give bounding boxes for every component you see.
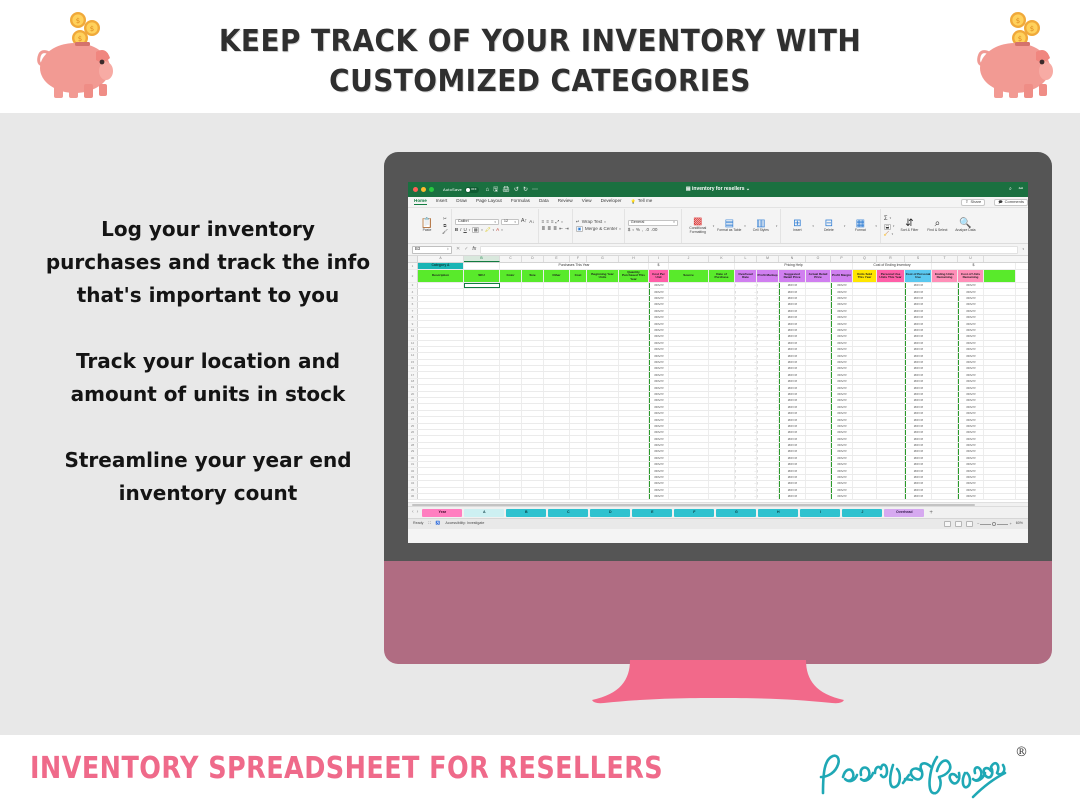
grid-cell[interactable]: |- [757,309,779,314]
grid-cell[interactable] [522,315,544,320]
grid-cell[interactable] [877,417,905,422]
grid-cell[interactable] [500,315,522,320]
grid-cell[interactable]: #DIV/0! [831,475,853,480]
grid-cell[interactable] [522,309,544,314]
grid-cell[interactable] [587,456,619,461]
grid-cell[interactable] [806,436,831,441]
font-row-bottom[interactable]: B I U ▾ ▦ ▾ 🖍 ▾ A ▾ [455,227,535,233]
grid-cell[interactable]: |- [757,360,779,365]
grid-cell[interactable] [500,462,522,467]
row-header[interactable]: 15 [408,360,418,365]
grid-cell[interactable]: #DIV/0! [831,309,853,314]
grid-cell[interactable] [544,475,570,480]
grid-cell[interactable]: #DIV/0! [958,385,984,390]
underline-button[interactable]: U [463,228,466,233]
grid-cell[interactable] [619,443,649,448]
grid-cell[interactable] [669,430,709,435]
number-buttons-row[interactable]: $ ▾ % , .0 .00 [628,228,678,233]
row-header[interactable]: 25 [408,424,418,429]
chevron-down-icon[interactable]: ▾ [494,221,496,224]
column-header-row[interactable]: ABCDEFGHIJKLMNOPQRSTU [408,256,1028,263]
grid-cell[interactable]: #DIV/0! [958,289,984,294]
grid-cell[interactable] [853,449,877,454]
grid-cell[interactable] [500,404,522,409]
row-header[interactable]: 18 [408,379,418,384]
chevron-down-icon[interactable]: ▾ [469,229,471,232]
grid-cell[interactable] [806,309,831,314]
grid-cell[interactable] [669,411,709,416]
grid-cell[interactable]: #DIV/0! [905,385,932,390]
grid-cell[interactable] [464,289,500,294]
grid-cell[interactable] [418,456,464,461]
grid-cell[interactable]: #DIV/0! [649,404,669,409]
grid-cell[interactable] [709,309,735,314]
grid-cell[interactable] [932,321,958,326]
grid-cell[interactable] [669,475,709,480]
grid-cell[interactable] [570,321,587,326]
grid-cell[interactable]: #DIV/0! [779,488,806,493]
grid-cell[interactable]: |- [757,315,779,320]
grid-cell[interactable]: #DIV/0! [831,302,853,307]
sheet-tab-c[interactable]: C [548,509,588,517]
grid-cell[interactable] [587,488,619,493]
formula-input[interactable] [480,246,1018,254]
grid-cell[interactable] [570,334,587,339]
grid-cell[interactable] [500,296,522,301]
grid-cell[interactable]: #DIV/0! [649,302,669,307]
sheet-nav-arrows[interactable]: ‹ › [412,510,418,515]
grid-cell[interactable] [877,462,905,467]
grid-cell[interactable] [522,321,544,326]
row-header[interactable]: 4 [408,289,418,294]
print-icon[interactable]: 🖨 [502,187,510,193]
grid-cell[interactable] [669,334,709,339]
grid-cell[interactable]: #DIV/0! [905,392,932,397]
grid-cell[interactable] [806,379,831,384]
grid-cell[interactable] [984,302,1016,307]
page-break-view-icon[interactable] [966,521,973,527]
analyze-data-button[interactable]: 🔍 Analyze Data [952,219,978,233]
grid-cell[interactable] [877,488,905,493]
tell-me-box[interactable]: 💡 Tell me [631,199,653,205]
grid-cell[interactable] [464,488,500,493]
grid-cell[interactable] [806,443,831,448]
grid-cell[interactable] [619,283,649,288]
grid-cell[interactable]: #DIV/0! [831,372,853,377]
grid-cell[interactable] [709,411,735,416]
grid-cell[interactable] [587,289,619,294]
table-row[interactable]: 36#DIV/0!|-|-#DIV/0!#DIV/0!#DIV/0!#DIV/0… [408,494,1028,500]
grid-cell[interactable]: |- [757,417,779,422]
grid-cell[interactable] [570,494,587,499]
grid-cell[interactable] [709,417,735,422]
grid-cell[interactable]: #DIV/0! [649,411,669,416]
grid-cell[interactable] [500,385,522,390]
grid-cell[interactable] [932,315,958,320]
sheet-tab-i[interactable]: I [800,509,840,517]
halign-row[interactable]: ≣ ≣ ≣ ⇤ ⇥ [542,227,569,232]
grid-cell[interactable]: #DIV/0! [905,449,932,454]
grid-cell[interactable] [853,404,877,409]
grid-cell[interactable] [619,468,649,473]
grid-cell[interactable] [464,360,500,365]
grid-cell[interactable]: #DIV/0! [649,283,669,288]
row-header[interactable]: 19 [408,385,418,390]
row-header[interactable]: 13 [408,347,418,352]
orientation-icon[interactable]: ⤢ [556,220,560,225]
grid-cell[interactable] [500,379,522,384]
spreadsheet-grid[interactable]: ABCDEFGHIJKLMNOPQRSTU 1Category APurchas… [408,256,1028,502]
grid-cell[interactable] [619,385,649,390]
grid-cell[interactable] [619,488,649,493]
grid-cell[interactable] [806,411,831,416]
grid-cell[interactable] [522,385,544,390]
grid-cell[interactable]: |- [757,443,779,448]
grid-cell[interactable]: #DIV/0! [958,488,984,493]
grid-cell[interactable] [418,468,464,473]
grid-cell[interactable] [522,424,544,429]
grid-cell[interactable] [587,494,619,499]
grid-cell[interactable]: #DIV/0! [779,334,806,339]
grid-cell[interactable] [619,411,649,416]
grid-cell[interactable] [544,289,570,294]
grid-cell[interactable] [619,417,649,422]
chevron-down-icon[interactable]: ▾ [673,221,675,224]
align-top-icon[interactable]: ≡ [542,220,545,225]
grid-cell[interactable] [500,283,522,288]
grid-cell[interactable]: #DIV/0! [649,296,669,301]
grid-cell[interactable] [464,334,500,339]
grid-cell[interactable]: #DIV/0! [831,417,853,422]
grid-cell[interactable] [522,283,544,288]
grid-cell[interactable]: #DIV/0! [649,289,669,294]
row-header[interactable]: 16 [408,366,418,371]
grid-cell[interactable] [570,379,587,384]
grid-cell[interactable]: |- [735,430,757,435]
grid-cell[interactable]: |- [735,404,757,409]
grid-cell[interactable] [522,488,544,493]
grid-cell[interactable] [669,404,709,409]
grid-cell[interactable]: #DIV/0! [649,372,669,377]
grid-cell[interactable]: #DIV/0! [779,360,806,365]
grid-cell[interactable]: #DIV/0! [649,398,669,403]
grid-cell[interactable] [932,424,958,429]
column-header-e[interactable]: E [544,256,570,262]
row-header[interactable]: 33 [408,475,418,480]
grid-cell[interactable] [418,462,464,467]
grid-cell[interactable] [669,436,709,441]
grid-cell[interactable] [544,411,570,416]
more-icon[interactable]: ⋯ [532,187,538,193]
grid-cell[interactable] [544,283,570,288]
grid-cell[interactable]: #DIV/0! [649,488,669,493]
grid-cell[interactable] [544,417,570,422]
align-bottom-icon[interactable]: ≡ [551,220,554,225]
grid-cell[interactable] [853,468,877,473]
column-header-m[interactable]: M [757,256,779,262]
grid-cell[interactable] [570,443,587,448]
grid-cell[interactable] [544,309,570,314]
grid-cell[interactable] [587,392,619,397]
horizontal-scrollbar[interactable] [408,502,1028,506]
grid-cell[interactable]: |- [735,341,757,346]
row-header[interactable]: 22 [408,404,418,409]
row-header[interactable]: 23 [408,411,418,416]
format-cells-button[interactable]: ▦ Format [847,219,873,233]
column-header-o[interactable]: O [806,256,831,262]
grid-cell[interactable] [853,372,877,377]
grid-cell[interactable] [587,449,619,454]
grid-cell[interactable]: #DIV/0! [779,296,806,301]
row-header[interactable]: 9 [408,321,418,326]
grid-cell[interactable] [619,456,649,461]
minimize-dot-icon[interactable] [421,187,426,192]
chevron-down-icon[interactable]: ▾ [514,221,516,224]
grid-cell[interactable] [806,392,831,397]
grid-cell[interactable]: |- [735,411,757,416]
grid-cell[interactable] [418,379,464,384]
grid-cell[interactable] [500,372,522,377]
grid-cell[interactable] [984,309,1016,314]
grid-cell[interactable] [544,488,570,493]
grid-cell[interactable] [500,411,522,416]
grid-cell[interactable] [853,366,877,371]
grid-cell[interactable] [877,341,905,346]
grid-cell[interactable] [464,475,500,480]
grid-cell[interactable] [464,411,500,416]
grid-cell[interactable] [464,481,500,486]
grid-cell[interactable] [500,468,522,473]
chevron-down-icon[interactable]: ▾ [604,221,606,224]
grid-cell[interactable]: #DIV/0! [905,360,932,365]
grid-cell[interactable] [587,296,619,301]
grid-cell[interactable]: |- [757,334,779,339]
grid-cell[interactable] [669,494,709,499]
grid-cell[interactable] [853,302,877,307]
grid-cell[interactable]: |- [757,302,779,307]
grid-cell[interactable] [464,436,500,441]
grid-cell[interactable]: #DIV/0! [905,353,932,358]
grid-cell[interactable]: |- [757,341,779,346]
grid-cell[interactable]: |- [735,468,757,473]
grid-cell[interactable] [853,494,877,499]
grid-cell[interactable] [984,443,1016,448]
grid-cell[interactable] [464,302,500,307]
grid-cell[interactable] [619,398,649,403]
grid-cell[interactable]: #DIV/0! [649,424,669,429]
grid-cell[interactable]: |- [735,392,757,397]
grid-cell[interactable] [806,296,831,301]
merge-center-button[interactable]: ▣ Merge & Center ▾ [576,226,621,232]
grid-cell[interactable] [709,353,735,358]
grid-cell[interactable]: #DIV/0! [958,411,984,416]
fill-icon[interactable]: ⬓ [884,224,891,230]
grid-cell[interactable]: #DIV/0! [958,430,984,435]
grid-cell[interactable] [984,468,1016,473]
grid-cell[interactable] [544,456,570,461]
grid-cell[interactable] [522,360,544,365]
grid-cell[interactable] [544,302,570,307]
grid-cell[interactable]: #DIV/0! [649,468,669,473]
grid-cell[interactable] [853,353,877,358]
grid-cell[interactable] [619,309,649,314]
grid-cell[interactable]: #DIV/0! [905,334,932,339]
grid-cell[interactable] [853,443,877,448]
grid-cell[interactable] [619,430,649,435]
grid-cell[interactable] [619,353,649,358]
grid-cell[interactable] [932,379,958,384]
grid-cell[interactable]: #DIV/0! [649,353,669,358]
grid-cell[interactable] [544,392,570,397]
sheet-tab-f[interactable]: F [674,509,714,517]
grid-cell[interactable] [619,296,649,301]
grid-cell[interactable]: #DIV/0! [831,404,853,409]
grid-cell[interactable] [544,430,570,435]
grid-cell[interactable] [984,398,1016,403]
grid-cell[interactable] [570,353,587,358]
grid-cell[interactable] [669,417,709,422]
sheet-tab-year[interactable]: Year [422,509,462,517]
row-header[interactable]: 17 [408,372,418,377]
grid-cell[interactable]: #DIV/0! [958,449,984,454]
grid-cell[interactable] [709,360,735,365]
share-button[interactable]: ⇪ Share [961,199,985,206]
grid-cell[interactable] [587,404,619,409]
delete-cells-button[interactable]: ⊟ Delete [816,219,842,233]
grid-cell[interactable]: #DIV/0! [905,379,932,384]
grid-cell[interactable] [984,430,1016,435]
grid-cell[interactable]: |- [735,449,757,454]
close-dot-icon[interactable] [413,187,418,192]
grid-cell[interactable] [619,462,649,467]
grid-cell[interactable] [587,417,619,422]
grid-cell[interactable]: #DIV/0! [779,475,806,480]
row-header[interactable]: 11 [408,334,418,339]
grid-cell[interactable]: #DIV/0! [905,283,932,288]
grid-cell[interactable] [570,449,587,454]
grid-cell[interactable]: #DIV/0! [958,481,984,486]
grid-cell[interactable] [853,385,877,390]
grid-cell[interactable] [877,289,905,294]
grid-cell[interactable] [418,372,464,377]
grid-cell[interactable]: #DIV/0! [831,436,853,441]
grid-cell[interactable] [619,341,649,346]
grid-cell[interactable] [669,283,709,288]
grid-cell[interactable] [877,456,905,461]
grid-cell[interactable]: #DIV/0! [905,417,932,422]
page-layout-view-icon[interactable] [955,521,962,527]
grid-cell[interactable] [806,302,831,307]
grid-cell[interactable] [464,353,500,358]
grid-cell[interactable] [464,449,500,454]
cut-icon[interactable]: ✂ [442,217,448,222]
grid-cell[interactable]: #DIV/0! [831,494,853,499]
grid-cell[interactable] [418,302,464,307]
grid-cell[interactable]: #DIV/0! [905,468,932,473]
grid-cell[interactable] [709,404,735,409]
bold-button[interactable]: B [455,228,458,233]
increase-indent-icon[interactable]: ⇥ [565,227,569,232]
grid-cell[interactable] [587,385,619,390]
grid-cell[interactable] [806,462,831,467]
grid-cell[interactable] [522,468,544,473]
grid-cell[interactable] [464,392,500,397]
autosum-row[interactable]: Σ ▾ [884,216,895,222]
row-header[interactable]: 1 [408,263,418,269]
grid-cell[interactable]: |- [735,309,757,314]
row-header[interactable]: 32 [408,468,418,473]
grid-cell[interactable] [544,481,570,486]
grid-cell[interactable] [877,436,905,441]
grid-cell[interactable] [500,436,522,441]
grid-cell[interactable]: |- [735,379,757,384]
grid-cell[interactable] [544,443,570,448]
grid-cell[interactable] [522,481,544,486]
sheet-tab-g[interactable]: G [716,509,756,517]
grid-cell[interactable]: #DIV/0! [649,341,669,346]
grid-cell[interactable]: |- [757,481,779,486]
name-box[interactable]: B3 ⇳ [412,246,452,254]
grid-cell[interactable]: #DIV/0! [958,417,984,422]
grid-cell[interactable]: |- [735,328,757,333]
grid-cell[interactable] [587,315,619,320]
grid-cell[interactable] [500,309,522,314]
grid-cell[interactable] [587,328,619,333]
home-icon[interactable]: ⌂ [486,187,490,193]
grid-cell[interactable] [932,341,958,346]
column-header-q[interactable]: Q [853,256,877,262]
grid-cell[interactable] [464,494,500,499]
grid-cell[interactable]: #DIV/0! [958,436,984,441]
grid-cell[interactable] [418,385,464,390]
grid-cell[interactable]: #DIV/0! [649,360,669,365]
sheet-tab-e[interactable]: E [632,509,672,517]
grid-cell[interactable] [587,424,619,429]
grid-cell[interactable]: |- [735,398,757,403]
next-sheet-icon[interactable]: › [417,510,419,515]
normal-view-icon[interactable] [944,521,951,527]
grid-cell[interactable]: #DIV/0! [831,398,853,403]
grid-cell[interactable] [522,456,544,461]
grid-cell[interactable] [418,309,464,314]
grid-cell[interactable] [587,309,619,314]
row-header[interactable]: 10 [408,328,418,333]
row-header[interactable]: 2 [408,270,418,282]
grid-cell[interactable] [587,436,619,441]
row-header[interactable]: 24 [408,417,418,422]
chevron-down-icon[interactable]: ▾ [619,228,621,231]
grid-cell[interactable] [587,468,619,473]
grid-cell[interactable]: #DIV/0! [779,302,806,307]
grid-cell[interactable]: #DIV/0! [831,411,853,416]
grid-cell[interactable] [984,481,1016,486]
grid-cell[interactable]: |- [757,347,779,352]
grid-cell[interactable] [932,328,958,333]
grow-font-icon[interactable]: A↑ [521,219,527,225]
grid-cell[interactable] [544,424,570,429]
grid-cell[interactable] [619,334,649,339]
grid-cell[interactable]: #DIV/0! [905,436,932,441]
grid-cell[interactable]: #DIV/0! [779,309,806,314]
grid-cell[interactable]: #DIV/0! [831,360,853,365]
grid-cell[interactable]: #DIV/0! [831,328,853,333]
grid-cell[interactable] [544,404,570,409]
grid-cell[interactable] [500,321,522,326]
grid-cell[interactable] [418,366,464,371]
sheet-tab-h[interactable]: H [758,509,798,517]
grid-cell[interactable]: #DIV/0! [905,341,932,346]
grid-cell[interactable] [544,468,570,473]
